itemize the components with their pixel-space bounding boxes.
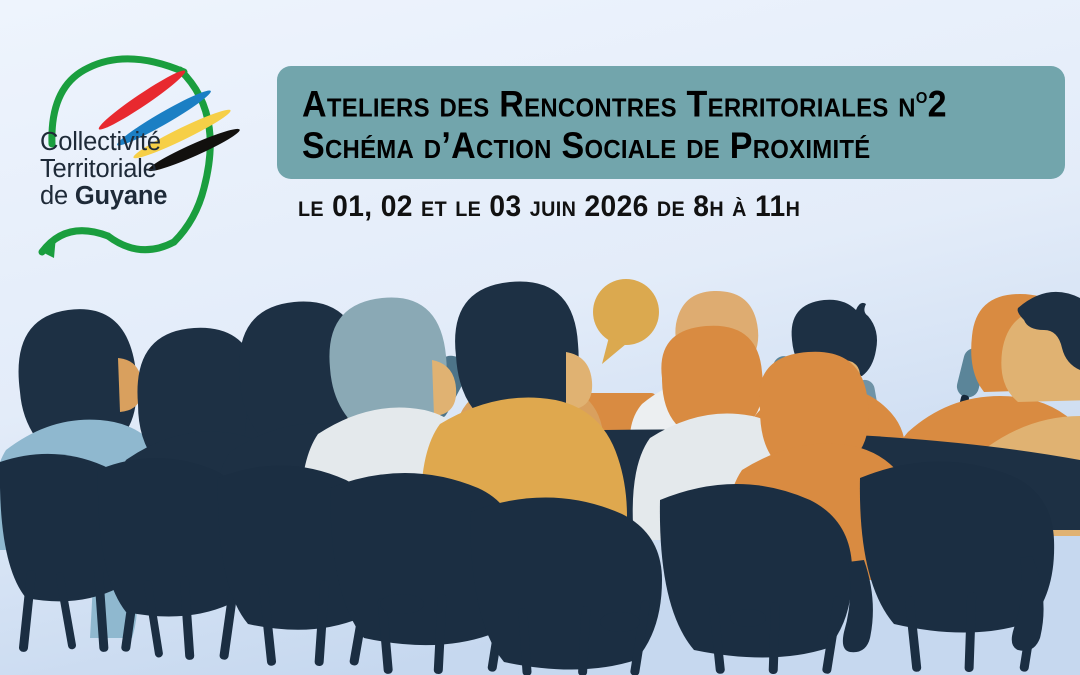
banner-title-line-1-main: Ateliers des Rencontres Territoriales n bbox=[302, 83, 916, 124]
collectivite-territoriale-de-guyane-logo: Collectivité Territoriale de Guyane bbox=[14, 22, 264, 270]
banner-title-line-2: Schéma d’Action Sociale de Proximité bbox=[302, 125, 871, 167]
shoe bbox=[730, 609, 766, 627]
logo-line-3-bold: Guyane bbox=[75, 182, 167, 210]
logo-wordmark: Collectivité Territoriale de Guyane bbox=[40, 129, 230, 210]
logo-line-3-prefix: de bbox=[40, 182, 75, 210]
chair bbox=[470, 497, 662, 675]
logo-line-1: Collectivité bbox=[40, 129, 230, 156]
event-dateline: le 01, 02 et le 03 juin 2026 de 8h à 11h bbox=[298, 190, 800, 224]
poster-canvas: Collectivité Territoriale de Guyane Atel… bbox=[0, 0, 1080, 675]
feather-red bbox=[96, 66, 189, 134]
banner-title-line-1-number: 2 bbox=[928, 83, 947, 124]
banner-title-line-1: Ateliers des Rencontres Territoriales no… bbox=[302, 82, 947, 125]
banner-title-superscript: o bbox=[916, 82, 928, 108]
title-banner: Ateliers des Rencontres Territoriales no… bbox=[277, 66, 1065, 179]
shoe bbox=[600, 612, 640, 632]
logo-line-2: Territoriale bbox=[40, 156, 230, 183]
logo-line-3: de Guyane bbox=[40, 183, 230, 210]
shoe bbox=[380, 594, 424, 614]
